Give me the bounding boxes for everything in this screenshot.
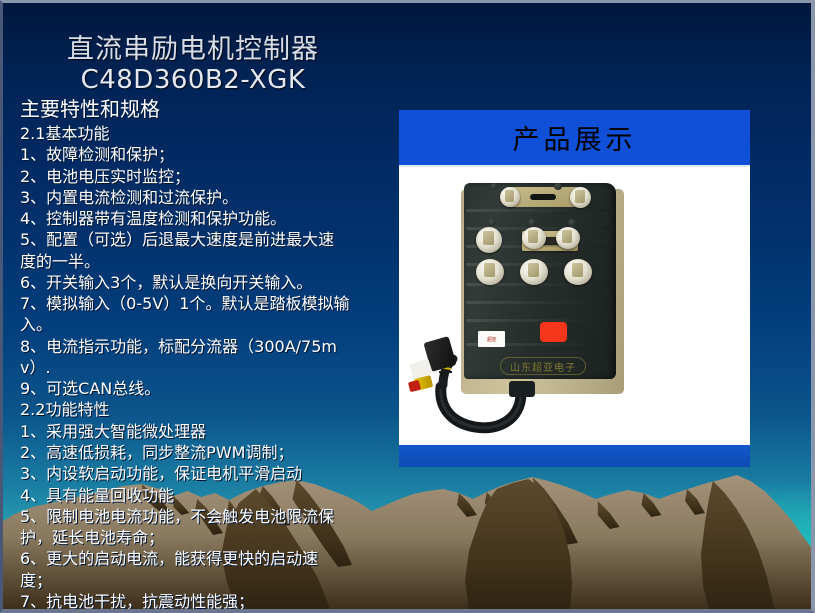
list-item: 4、控制器带有温度检测和保护功能。: [20, 208, 350, 229]
section-heading: 主要特性和规格: [20, 97, 350, 122]
list-item: 8、电流指示功能，标配分流器（300A/75mv）.: [20, 336, 350, 379]
photo-bottom-strip: [399, 445, 750, 467]
list-item: 1、采用强大智能微处理器: [20, 421, 350, 442]
top-vent-slot: [530, 194, 556, 200]
showcase-header-label: 产品展示: [513, 118, 637, 157]
list-item: 5、配置（可选）后退最大速度是前进最大速度的一半。: [20, 229, 350, 272]
specifications-text-column: 主要特性和规格 2.1基本功能 1、故障检测和保护； 2、电池电压实时监控； 3…: [20, 97, 350, 613]
list-item: 5、限制电池电流功能，不会触发电池限流保护，延长电池寿命；: [20, 506, 350, 549]
list-item: 9、可选CAN总线。: [20, 378, 350, 399]
list-item: 6、更大的启动电流，能获得更快的启动速度；: [20, 548, 350, 591]
list-item: 2、电池电压实时监控；: [20, 166, 350, 187]
list-item: 6、开关输入3个，默认是换向开关输入。: [20, 272, 350, 293]
list-item: 7、抗电池干扰，抗震动性能强；: [20, 591, 350, 612]
presentation-slide: 直流串励电机控制器 C48D360B2-XGK 主要特性和规格 2.1基本功能 …: [0, 0, 815, 613]
showcase-header: 产品展示: [399, 110, 750, 167]
feature-group-basic: 2.1基本功能 1、故障检测和保护； 2、电池电压实时监控； 3、内置电流检测和…: [20, 123, 350, 399]
list-item: 3、内设软启动功能，保证电机平滑启动: [20, 463, 350, 484]
list-item: 4、具有能量回收功能: [20, 485, 350, 506]
list-item: 1、故障检测和保护；: [20, 144, 350, 165]
product-photo: 超亚 山东超亚电子: [399, 167, 750, 467]
slide-title-block: 直流串励电机控制器 C48D360B2-XGK: [3, 35, 383, 94]
subsection-heading: 2.2功能特性: [20, 399, 350, 420]
subsection-heading: 2.1基本功能: [20, 123, 350, 144]
feature-group-functional: 2.2功能特性 1、采用强大智能微处理器 2、高速低损耗，同步整流PWM调制； …: [20, 399, 350, 613]
model-number: C48D360B2-XGK: [3, 66, 383, 94]
connector-red: [408, 380, 421, 392]
motor-controller-device-image: 超亚 山东超亚电子: [461, 183, 624, 396]
list-item: 7、模拟输入（0-5V）1个。默认是踏板模拟输入。: [20, 293, 350, 336]
connector-cluster: [409, 333, 559, 438]
product-showcase-panel: 产品展示: [399, 110, 750, 467]
list-item: 3、内置电流检测和过流保护。: [20, 187, 350, 208]
page-title: 直流串励电机控制器: [3, 35, 383, 64]
list-item: 2、高速低损耗，同步整流PWM调制；: [20, 442, 350, 463]
